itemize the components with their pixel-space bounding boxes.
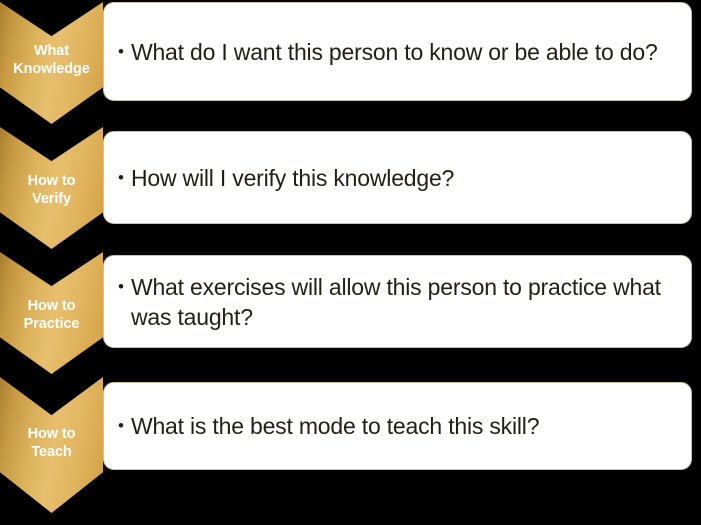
question-text-3: What exercises will allow this person to… xyxy=(131,272,681,332)
chevron-step-3: How to Practice xyxy=(0,252,103,374)
question-text-2: How will I verify this knowledge? xyxy=(131,163,681,193)
question-box-4: • What is the best mode to teach this sk… xyxy=(103,382,692,470)
bullet-icon: • xyxy=(118,37,131,67)
chevron-shape-icon xyxy=(0,2,103,124)
chevron-step-4: How to Teach xyxy=(0,377,103,513)
chevron-shape-icon xyxy=(0,252,103,374)
chevron-shape-icon xyxy=(0,377,103,513)
bullet-row-2: • How will I verify this knowledge? xyxy=(118,163,681,193)
bullet-row-3: • What exercises will allow this person … xyxy=(118,272,681,332)
bullet-icon: • xyxy=(118,272,131,302)
question-box-3: • What exercises will allow this person … xyxy=(103,255,692,348)
question-box-2: • How will I verify this knowledge? xyxy=(103,131,692,224)
bullet-row-1: • What do I want this person to know or … xyxy=(118,37,681,67)
bullet-row-4: • What is the best mode to teach this sk… xyxy=(118,411,681,441)
chevron-shape-icon xyxy=(0,127,103,249)
question-text-4: What is the best mode to teach this skil… xyxy=(131,411,681,441)
bullet-icon: • xyxy=(118,411,131,441)
chevron-step-2: How to Verify xyxy=(0,127,103,249)
bullet-icon: • xyxy=(118,163,131,193)
question-box-1: • What do I want this person to know or … xyxy=(103,2,692,101)
process-flow-diagram: What Knowledge • What do I want this per… xyxy=(0,0,701,525)
chevron-step-1: What Knowledge xyxy=(0,2,103,124)
question-text-1: What do I want this person to know or be… xyxy=(131,37,681,67)
